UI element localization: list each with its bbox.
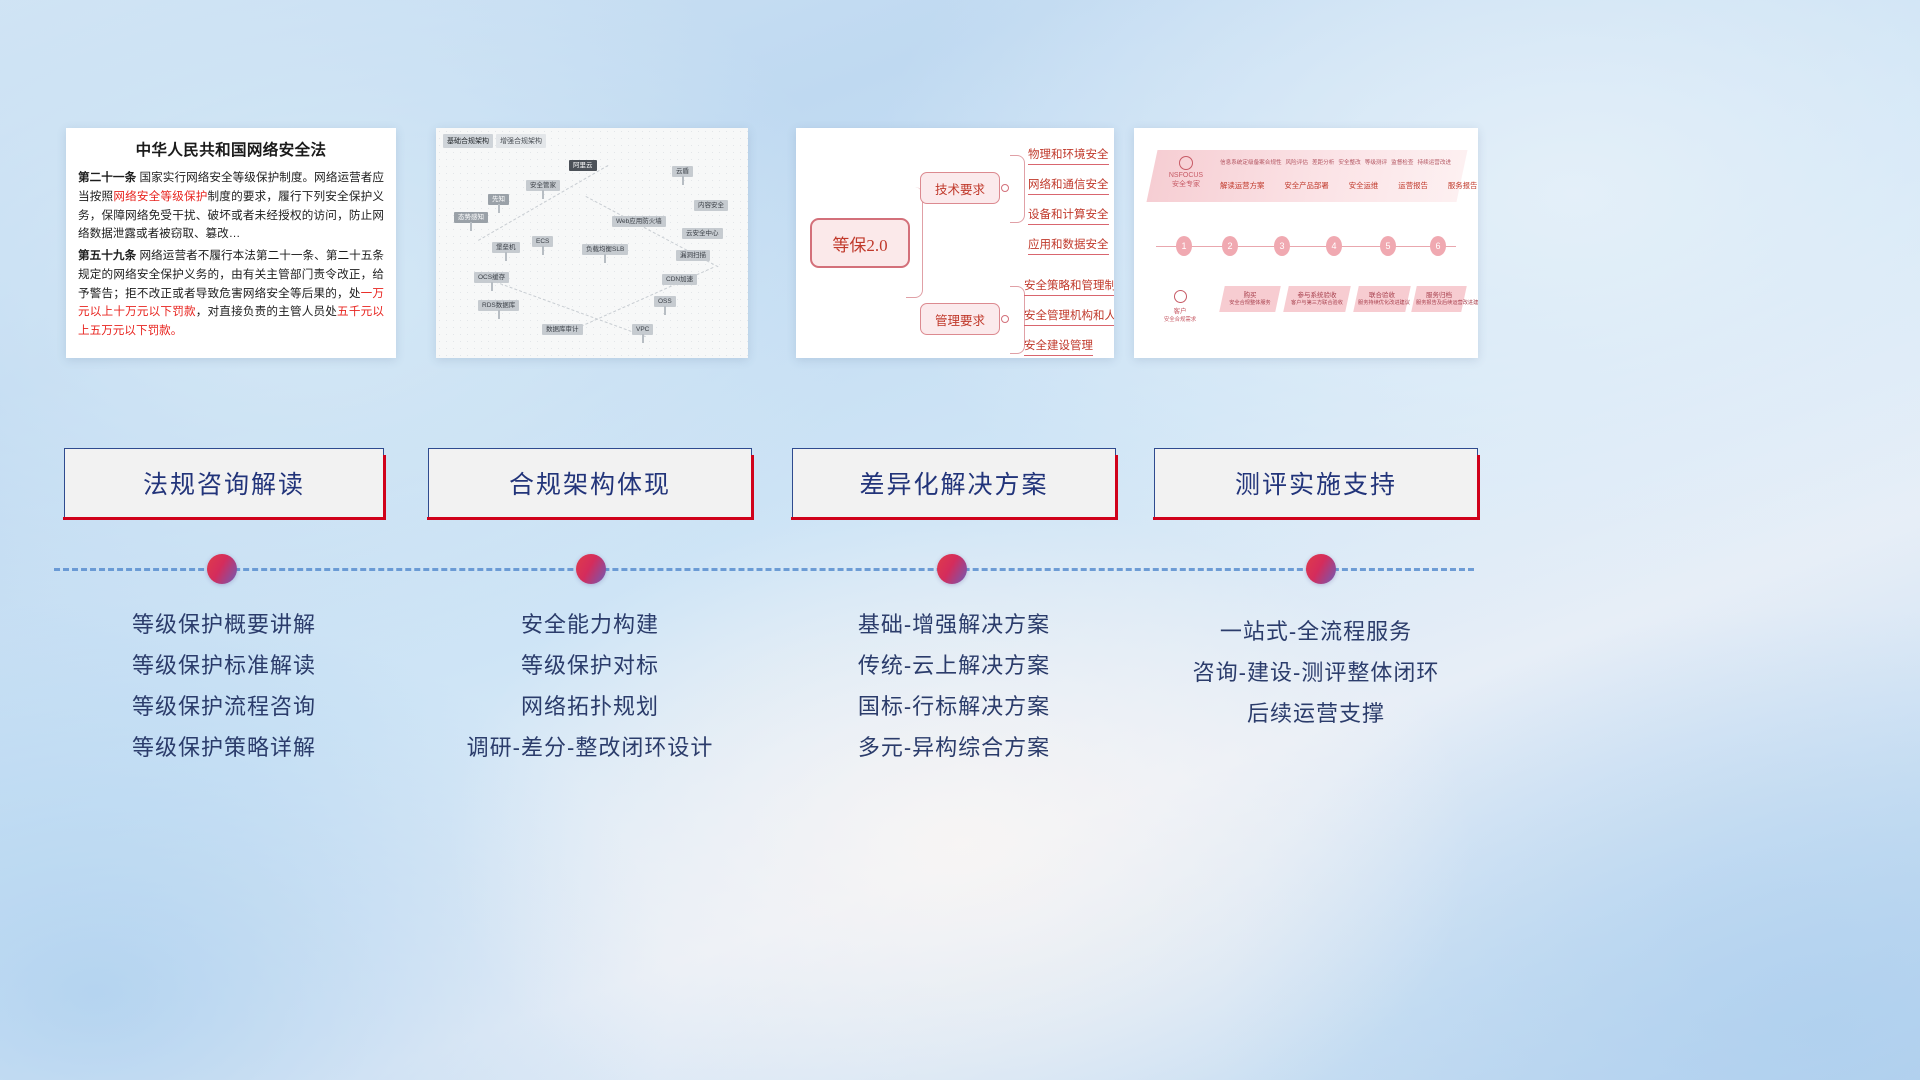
law-title: 中华人民共和国网络安全法 [78,138,384,160]
roadmap-brand-sub: 安全专家 [1160,181,1212,190]
heading-box-4[interactable]: 测评实施支持 [1154,448,1478,518]
heading-box-3[interactable]: 差异化解决方案 [792,448,1116,518]
mindmap-leaf: 网络和通信安全 [1028,176,1109,195]
list-item: 调研-差分-整改闭环设计 [428,728,752,769]
person-icon [1179,156,1193,170]
roadmap-bottom-label: 参与系统验收 客户与第三方联合验收 [1290,292,1344,307]
card-mindmap: 等保2.0 技术要求 物理和环境安全 网络和通信安全 设备和计算安全 应用和数据… [796,128,1114,358]
card-roadmap: NSFOCUS 安全专家 信息系统定级备案合规性 风险评估 差距分析 安全整改 … [1134,128,1478,358]
customer-icon [1174,290,1187,303]
timeline-dot-3[interactable] [937,554,967,584]
bullet-column-4: 一站式-全流程服务 咨询-建设-测评整体闭环 后续运营支撑 [1154,612,1478,735]
architecture-node-vuln-scan: 漏洞扫描 [676,250,710,261]
roadmap-subtag: 运营报告 [1398,180,1428,191]
roadmap-step: 2 [1222,236,1238,256]
architecture-node-vpc: VPC [632,324,653,342]
roadmap-subtag: 解读运营方案 [1220,180,1264,191]
list-item: 等级保护标准解读 [64,646,384,687]
roadmap-customer-sub: 安全合规需求 [1160,315,1200,323]
roadmap-tag: 监督检查 [1391,158,1413,166]
list-item: 一站式-全流程服务 [1154,612,1478,653]
heading-label-1: 法规咨询解读 [143,465,305,501]
roadmap-bottom-sub: 服务持续优化改进建议 [1358,300,1406,307]
roadmap-step: 6 [1430,236,1446,256]
roadmap-step: 1 [1176,236,1192,256]
timeline-dashed-line [54,568,1474,571]
list-item: 多元-异构综合方案 [792,728,1116,769]
law-article-21-label: 第二十一条 [78,171,136,184]
roadmap-subtag: 安全产品部署 [1284,180,1328,191]
roadmap-step: 3 [1274,236,1290,256]
roadmap-customer: 客户 安全合规需求 [1160,290,1200,323]
heading-box-1[interactable]: 法规咨询解读 [64,448,384,518]
roadmap-bottom-label: 联合验收 服务持续优化改进建议 [1358,292,1406,307]
architecture-tabs: 基础合规架构 增强合规架构 [443,134,546,148]
list-item: 等级保护概要讲解 [64,605,384,646]
roadmap-bottom-sub: 服务报告及后续运营改进建议 [1416,300,1462,307]
mindmap-root: 等保2.0 [810,218,910,268]
mindmap-branch-management: 管理要求 [920,303,1000,335]
architecture-node-cloud-security-center: 云安全中心 [682,228,723,239]
bullet-column-2: 安全能力构建 等级保护对标 网络拓扑规划 调研-差分-整改闭环设计 [428,605,752,769]
architecture-node-xianzhi: 先知 [488,194,509,212]
roadmap-top-tags: 信息系统定级备案合规性 风险评估 差距分析 安全整改 等级测评 监督检查 持续运… [1220,158,1451,166]
mindmap-collapse-dot[interactable] [1001,315,1009,323]
list-item: 等级保护对标 [428,646,752,687]
bullet-column-3: 基础-增强解决方案 传统-云上解决方案 国标-行标解决方案 多元-异构综合方案 [792,605,1116,769]
mindmap-canvas: 等保2.0 技术要求 物理和环境安全 网络和通信安全 设备和计算安全 应用和数据… [796,128,1114,358]
roadmap-brand: NSFOCUS 安全专家 [1160,156,1212,190]
mindmap-leaf: 应用和数据安全 [1028,236,1109,255]
cube-icon [682,176,684,185]
law-article-59-text-b: ，对直接负责的主管人员处 [196,305,337,318]
roadmap-canvas: NSFOCUS 安全专家 信息系统定级备案合规性 风险评估 差距分析 安全整改 … [1134,128,1478,358]
roadmap-tag: 安全整改 [1338,158,1360,166]
law-article-59: 第五十九条 网络运营者不履行本法第二十一条、第二十五条规定的网络安全保护义务的，… [78,247,384,341]
list-item: 咨询-建设-测评整体闭环 [1154,653,1478,694]
cube-icon [642,334,644,343]
architecture-node-security-steward: 安全管家 [526,180,560,198]
cube-icon [498,310,500,319]
heading-box-2[interactable]: 合规架构体现 [428,448,752,518]
roadmap-tag: 差距分析 [1312,158,1334,166]
architecture-node-waf: Web应用防火墙 [612,216,666,227]
cube-icon [491,282,493,291]
mindmap-branch-connector [1010,286,1025,354]
roadmap-tag: 风险评估 [1286,158,1308,166]
roadmap-bottom-label: 购买 安全合规整体服务 [1226,292,1274,307]
list-item: 国标-行标解决方案 [792,687,1116,728]
architecture-node-db-audit: 数据库审计 [542,324,583,335]
architecture-tab-basic[interactable]: 基础合规架构 [443,134,493,148]
cube-icon [664,306,666,315]
architecture-canvas: 基础合规架构 增强合规架构 阿里云 安全管家 先知 态势感知 [436,128,748,358]
roadmap-subtag: 安全运维 [1349,180,1379,191]
slide-canvas: 中华人民共和国网络安全法 第二十一条 国家实行网络安全等级保护制度。网络运营者应… [0,0,1920,1080]
roadmap-tag: 等级测评 [1365,158,1387,166]
timeline-dot-4[interactable] [1306,554,1336,584]
roadmap-customer-label: 客户 [1160,305,1200,315]
heading-label-4: 测评实施支持 [1235,465,1397,501]
list-item: 安全能力构建 [428,605,752,646]
list-item: 传统-云上解决方案 [792,646,1116,687]
architecture-node-ecs: ECS [532,236,553,254]
card-law-document: 中华人民共和国网络安全法 第二十一条 国家实行网络安全等级保护制度。网络运营者应… [66,128,396,358]
architecture-node-rds: RDS数据库 [478,300,519,318]
heading-label-3: 差异化解决方案 [859,465,1048,501]
mindmap-collapse-dot[interactable] [1001,184,1009,192]
law-article-59-label: 第五十九条 [78,249,136,262]
architecture-node-aliyun: 阿里云 [569,160,597,171]
mindmap-leaf: 安全建设管理 [1024,337,1093,356]
list-item: 基础-增强解决方案 [792,605,1116,646]
architecture-node-situation-awareness: 态势感知 [454,212,488,230]
architecture-node-ocs: OCS缓存 [474,272,509,290]
roadmap-axis [1156,246,1456,247]
timeline-dot-1[interactable] [207,554,237,584]
architecture-node-cloud-shield: 云盾 [672,166,693,184]
roadmap-bottom-sub: 客户与第三方联合验收 [1290,300,1344,307]
list-item: 等级保护流程咨询 [64,687,384,728]
architecture-tab-enhanced[interactable]: 增强合规架构 [496,134,546,148]
architecture-node-bastion-host: 堡垒机 [492,242,520,260]
roadmap-tag: 信息系统定级备案合规性 [1220,158,1282,166]
architecture-node-content-security: 内容安全 [694,200,728,211]
cube-icon [505,252,507,261]
cube-icon [470,222,472,231]
mindmap-leaf: 安全管理机构和人员 [1024,307,1114,326]
mindmap-branch-technical: 技术要求 [920,172,1000,204]
mindmap-leaf: 物理和环境安全 [1028,146,1109,165]
mindmap-leaf: 安全策略和管理制度 [1024,277,1114,296]
list-item: 网络拓扑规划 [428,687,752,728]
law-article-21: 第二十一条 国家实行网络安全等级保护制度。网络运营者应当按照网络安全等级保护制度… [78,169,384,244]
law-document: 中华人民共和国网络安全法 第二十一条 国家实行网络安全等级保护制度。网络运营者应… [66,128,396,358]
architecture-node-cdn: CDN加速 [662,274,697,285]
mindmap-branch-connector [1010,155,1025,223]
roadmap-bottom-sub: 安全合规整体服务 [1226,300,1274,307]
heading-label-2: 合规架构体现 [509,465,671,501]
roadmap-step: 5 [1380,236,1396,256]
list-item: 后续运营支撑 [1154,694,1478,735]
cube-icon [542,190,544,199]
card-architecture-diagram: 基础合规架构 增强合规架构 阿里云 安全管家 先知 态势感知 [436,128,748,358]
roadmap-sub-tags: 解读运营方案 安全产品部署 安全运维 运营报告 服务报告 [1220,180,1477,191]
mindmap-leaf: 设备和计算安全 [1028,206,1109,225]
cube-icon [498,204,500,213]
architecture-node-slb: 负载均衡SLB [582,244,628,262]
roadmap-step: 4 [1326,236,1342,256]
roadmap-brand-name: NSFOCUS [1160,172,1212,181]
law-article-21-highlight: 网络安全等级保护 [113,190,207,203]
timeline-dot-2[interactable] [576,554,606,584]
architecture-node-oss: OSS [654,296,676,314]
cube-icon [542,246,544,255]
roadmap-bottom-label: 服务归档 服务报告及后续运营改进建议 [1416,292,1462,307]
list-item: 等级保护策略详解 [64,728,384,769]
bullet-column-1: 等级保护概要讲解 等级保护标准解读 等级保护流程咨询 等级保护策略详解 [64,605,384,769]
roadmap-subtag: 服务报告 [1448,180,1478,191]
cube-icon [604,254,606,263]
roadmap-tag: 持续运营改进 [1418,158,1452,166]
